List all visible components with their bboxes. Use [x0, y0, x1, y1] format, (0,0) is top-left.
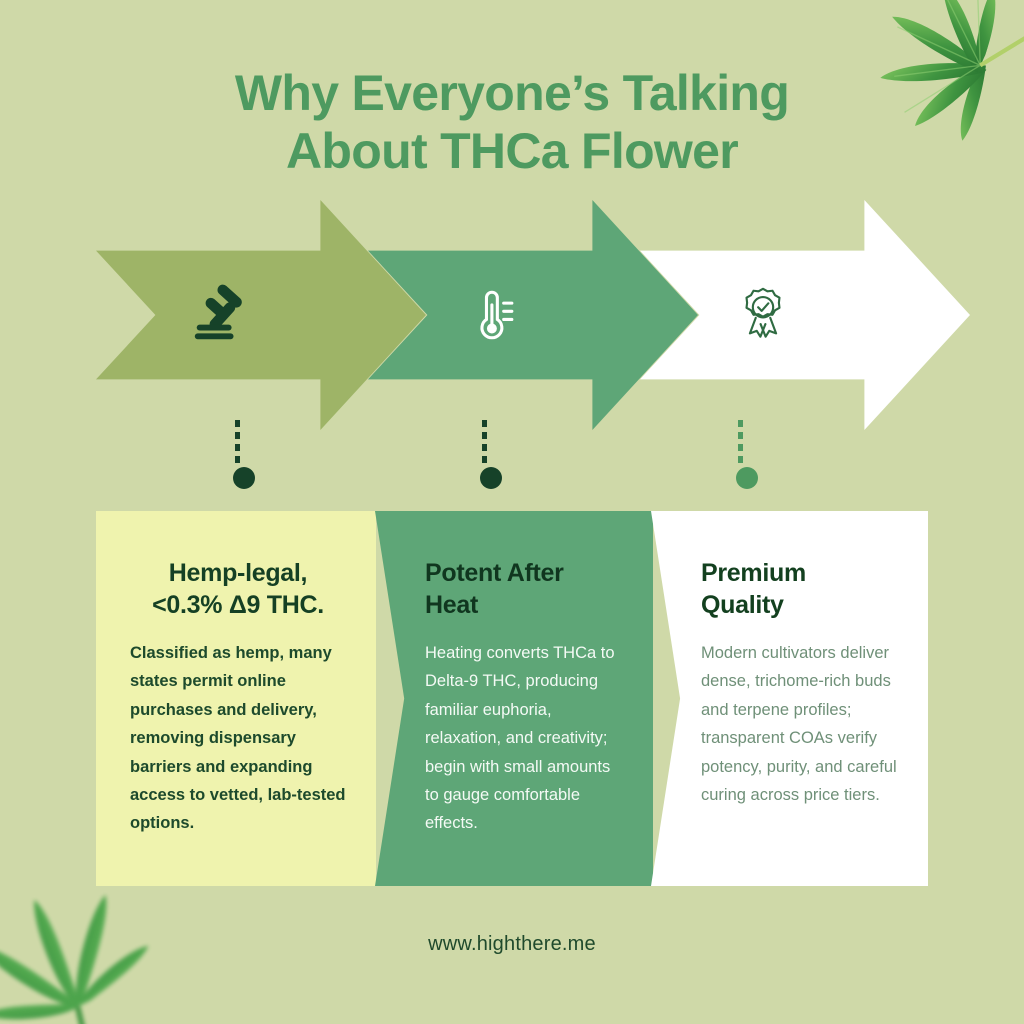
heading-line-2: <0.3% Δ9 THC. — [152, 591, 324, 619]
step-card-3-body: Modern cultivators deliver dense, tricho… — [701, 639, 908, 809]
process-arrow-band — [96, 200, 928, 430]
step-card-2-body: Heating converts THCa to Delta-9 THC, pr… — [425, 639, 627, 838]
connector-dash — [738, 420, 743, 468]
step-card-2-heading: Potent After Heat — [425, 557, 627, 621]
thermometer-icon — [462, 285, 520, 348]
step-cards: Hemp-legal, <0.3% Δ9 THC. Classified as … — [96, 511, 928, 886]
step-card-2: Potent After Heat Heating converts THCa … — [375, 511, 653, 886]
heading-line-2: Quality — [701, 591, 784, 619]
connector-dot — [736, 467, 758, 489]
connector-dash — [235, 420, 240, 468]
gavel-icon — [188, 283, 250, 350]
step-card-1-body: Classified as hemp, many states permit o… — [130, 639, 346, 838]
heading-line-1: Potent After — [425, 559, 564, 587]
step-card-1: Hemp-legal, <0.3% Δ9 THC. Classified as … — [96, 511, 376, 886]
page-title: Why Everyone’s Talking About THCa Flower — [0, 64, 1024, 180]
heading-line-1: Premium — [701, 559, 806, 587]
connector-dot — [480, 467, 502, 489]
heading-line-2: Heat — [425, 591, 478, 619]
process-arrow-step-1 — [96, 200, 426, 430]
step-card-3: Premium Quality Modern cultivators deliv… — [651, 511, 928, 886]
connector-dash — [482, 420, 487, 468]
connector-dot — [233, 467, 255, 489]
connector-line-1 — [233, 420, 241, 489]
connector-line-3 — [736, 420, 744, 489]
award-ribbon-icon — [732, 283, 794, 350]
title-line-1: Why Everyone’s Talking — [0, 64, 1024, 122]
connector-line-2 — [480, 420, 488, 489]
infographic-poster: Why Everyone’s Talking About THCa Flower — [0, 0, 1024, 1024]
heading-line-1: Hemp-legal, — [169, 559, 307, 587]
title-line-2: About THCa Flower — [0, 122, 1024, 180]
step-card-1-heading: Hemp-legal, <0.3% Δ9 THC. — [130, 557, 346, 621]
footer-url[interactable]: www.highthere.me — [0, 933, 1024, 956]
step-card-3-heading: Premium Quality — [701, 557, 908, 621]
